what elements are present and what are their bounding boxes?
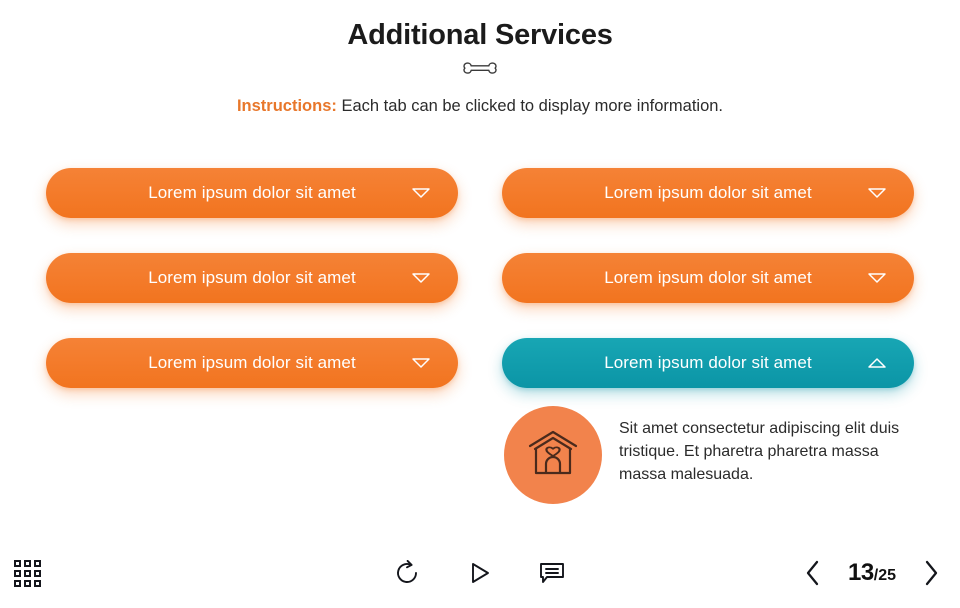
chevron-down-icon[interactable] [866, 186, 888, 200]
panel-icon-circle [504, 406, 602, 504]
accordion-item-left-2[interactable]: Lorem ipsum dolor sit amet [46, 253, 458, 303]
footer-pagination: 13 /25 [800, 558, 944, 588]
chevron-down-icon[interactable] [410, 186, 432, 200]
panel-text: Sit amet consectetur adipiscing elit dui… [619, 406, 904, 487]
chevron-left-icon[interactable] [800, 558, 826, 588]
accordion-item-right-1[interactable]: Lorem ipsum dolor sit amet [502, 168, 914, 218]
play-icon[interactable] [463, 556, 497, 590]
chevron-up-icon[interactable] [866, 356, 888, 370]
grid-cell [24, 560, 31, 567]
accordion-expanded-panel: Sit amet consectetur adipiscing elit dui… [502, 406, 914, 504]
accordion-item-left-1[interactable]: Lorem ipsum dolor sit amet [46, 168, 458, 218]
footer-controls [391, 556, 569, 590]
accordion-label: Lorem ipsum dolor sit amet [148, 268, 356, 288]
grid-cell [24, 580, 31, 587]
footer: 13 /25 [0, 546, 960, 608]
instructions-label: Instructions: [237, 97, 337, 115]
notes-icon[interactable] [535, 556, 569, 590]
instructions-text: Each tab can be clicked to display more … [341, 97, 723, 115]
chevron-down-icon[interactable] [410, 356, 432, 370]
accordion-item-right-2[interactable]: Lorem ipsum dolor sit amet [502, 253, 914, 303]
grid-menu-glyph [14, 560, 41, 587]
grid-cell [24, 570, 31, 577]
page-counter: 13 /25 [848, 559, 896, 587]
grid-cell [34, 560, 41, 567]
accordion-label: Lorem ipsum dolor sit amet [604, 353, 812, 373]
accordion-left-column: Lorem ipsum dolor sit amet Lorem ipsum d… [46, 168, 458, 524]
accordion-item-left-3[interactable]: Lorem ipsum dolor sit amet [46, 338, 458, 388]
accordion-item-right-3[interactable]: Lorem ipsum dolor sit amet [502, 338, 914, 388]
grid-cell [14, 560, 21, 567]
grid-cell [34, 570, 41, 577]
chevron-down-icon[interactable] [866, 271, 888, 285]
bone-icon [460, 60, 500, 83]
total-pages: /25 [874, 567, 896, 585]
grid-cell [14, 580, 21, 587]
instructions: Instructions: Each tab can be clicked to… [0, 96, 960, 117]
current-page: 13 [848, 559, 874, 587]
accordion-label: Lorem ipsum dolor sit amet [604, 183, 812, 203]
accordion-right-column: Lorem ipsum dolor sit amet Lorem ipsum d… [502, 168, 914, 524]
grid-cell [34, 580, 41, 587]
accordion-label: Lorem ipsum dolor sit amet [604, 268, 812, 288]
grid-menu-icon[interactable] [14, 560, 41, 587]
accordion-label: Lorem ipsum dolor sit amet [148, 353, 356, 373]
chevron-down-icon[interactable] [410, 271, 432, 285]
accordion-label: Lorem ipsum dolor sit amet [148, 183, 356, 203]
page-title: Additional Services [0, 18, 960, 53]
grid-cell [14, 570, 21, 577]
replay-icon[interactable] [391, 556, 425, 590]
chevron-right-icon[interactable] [918, 558, 944, 588]
dog-house-heart-icon [525, 427, 581, 484]
accordion-section: Lorem ipsum dolor sit amet Lorem ipsum d… [0, 168, 960, 524]
bone-divider [0, 61, 960, 83]
